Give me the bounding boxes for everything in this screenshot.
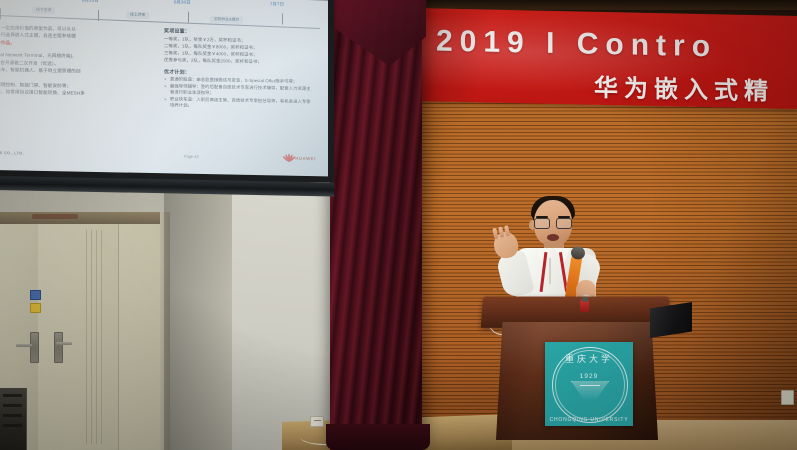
university-emblem: 重庆大学 1929 CHONGQING UNIVERSITY [545, 342, 633, 426]
footer-page-number: Page 43 [184, 154, 199, 159]
podium-indicator-light [580, 300, 589, 312]
presentation-slide: 6月20日 6月30日 7月7日 线下宣讲 线上评审 实物作业&提交 、发挥创意… [0, 0, 328, 176]
door-sticker-blue [30, 290, 41, 300]
timeline-chip-1: 线下宣讲 [32, 7, 55, 15]
door-handle-left[interactable] [16, 344, 32, 347]
footer-company: ...CHNOLOGIES CO., LTD. [0, 150, 24, 156]
wall-socket-right [781, 390, 794, 405]
slide-footer: ...CHNOLOGIES CO., LTD. Page 43 HUAWEI [0, 148, 320, 169]
lecture-hall-photo: 2019 I Contro 华为嵌入式精 [0, 0, 797, 450]
timeline-date-3: 7月7日 [270, 1, 284, 7]
timeline-chip-3: 实物作业&提交 [210, 16, 243, 24]
huawei-wordmark: HUAWEI [295, 156, 316, 161]
projection-screen: 6月20日 6月30日 7月7日 线下宣讲 线上评审 实物作业&提交 、发挥创意… [0, 0, 328, 176]
timeline-date-1: 6月20日 [82, 0, 99, 4]
projection-screen-frame: 6月20日 6月30日 7月7日 线下宣讲 线上评审 实物作业&提交 、发挥创意… [0, 0, 334, 182]
talent-plan-item: 职业快车道：入职后高级主管、自质技术专家担任导师，有机会进入专家培养计划。 [164, 96, 314, 112]
door-header-beam [0, 212, 164, 224]
slide-left-column: 、发挥创意，有一定应用价值的原型作品，可以从以 选题，也可以自行选择嵌入式主题，… [0, 24, 164, 107]
speaker-glasses [534, 218, 572, 227]
stage-curtain [330, 0, 422, 450]
curtain-hem [326, 424, 430, 450]
huawei-petal-icon [284, 154, 293, 163]
timeline-chip-2: 线上评审 [126, 12, 149, 20]
wall-panel-beside-door [118, 224, 164, 450]
door-lock-plate-left[interactable] [30, 332, 39, 363]
door-panel-grooves [86, 230, 104, 444]
speaker-shirt-placket [549, 258, 551, 284]
slide-right-column: 奖项设置： 一等奖，1队，奖金￥2万，奖杯和证书； 二等奖，1队，每队奖金￥80… [164, 27, 314, 112]
wall-shadow [164, 186, 234, 450]
speaker-mouth [547, 234, 559, 241]
banner-title-line1: 2019 I Contro [436, 24, 717, 64]
emblem-chinese-name: 重庆大学 [545, 352, 633, 365]
emblem-year: 1929 [545, 373, 633, 380]
event-banner: 2019 I Contro 华为嵌入式精 [414, 8, 797, 109]
door-handle-right[interactable] [56, 342, 72, 345]
door-lock-plate-right[interactable] [54, 332, 63, 363]
huawei-logo: HUAWEI [284, 154, 316, 164]
banner-title-line2: 华为嵌入式精 [594, 68, 774, 107]
door-right-leaf[interactable] [38, 224, 119, 450]
emblem-english-name: CHONGQING UNIVERSITY [545, 417, 633, 423]
floor-cabinet [0, 388, 27, 450]
door-sticker-yellow [30, 303, 41, 313]
timeline-date-2: 6月30日 [174, 0, 191, 6]
